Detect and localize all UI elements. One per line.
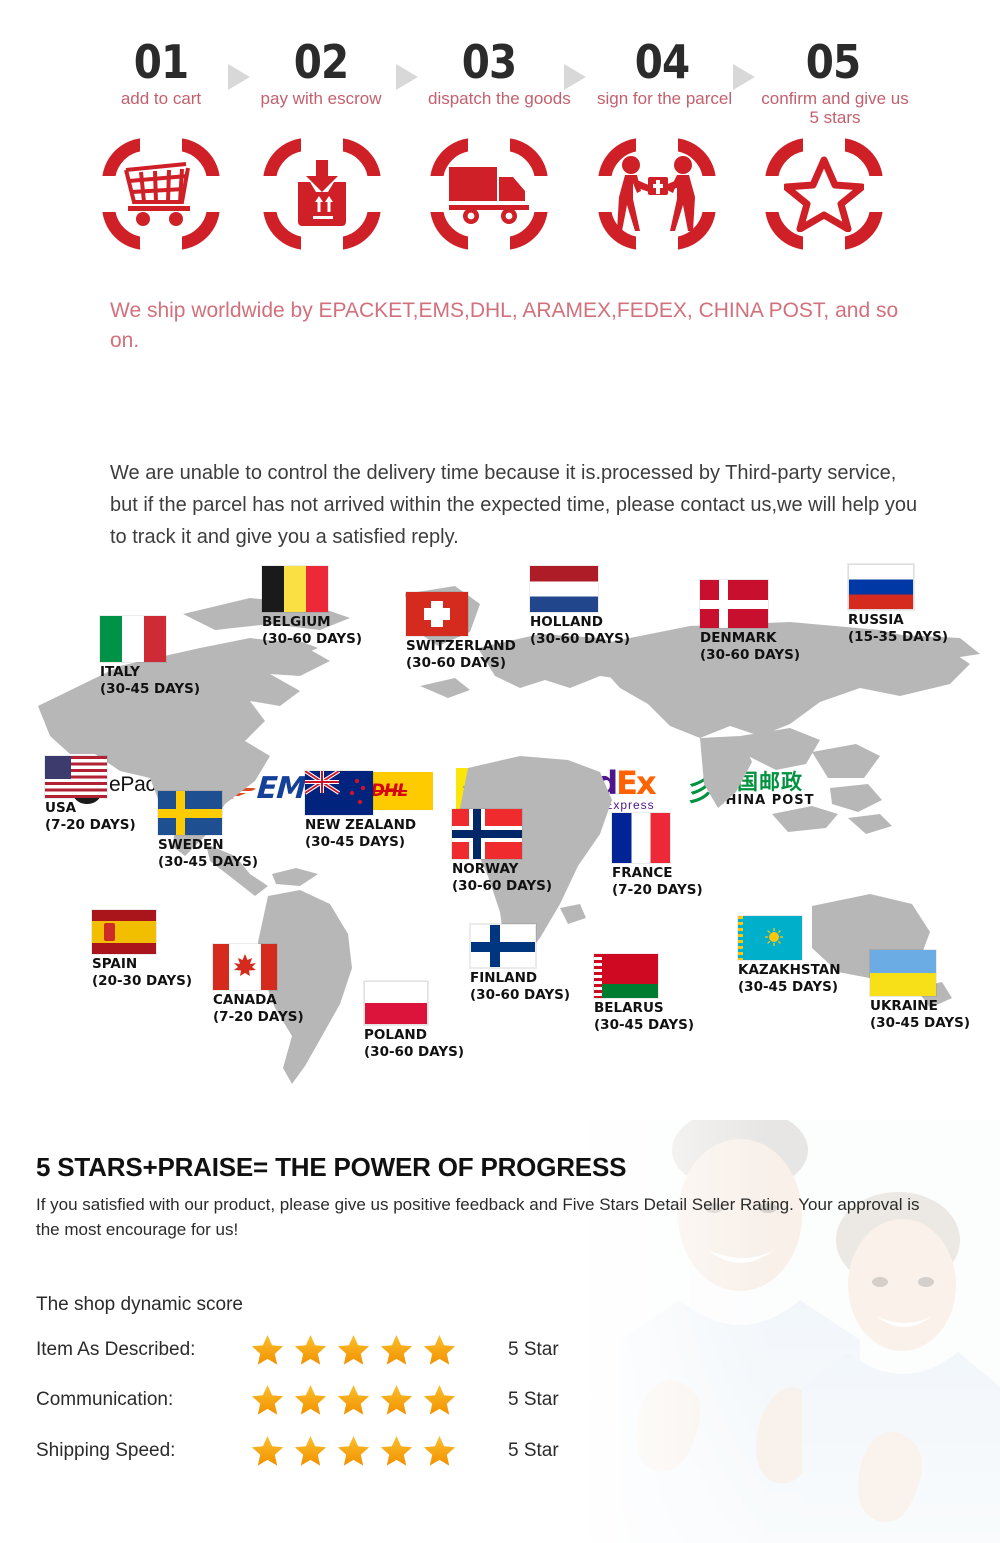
flag-holland-icon [530,566,598,612]
map-pin-denmark: DENMARK (30-60 DAYS) [700,580,800,664]
country-name: USA [45,800,136,817]
step-label: pay with escrow [260,89,382,108]
country-days: (30-60 DAYS) [406,655,516,672]
star-icon [380,1435,413,1467]
flag-canada-icon [213,944,277,990]
flag-russia-icon [848,564,914,610]
star-icon [294,1384,327,1416]
step-03: 03 dispatch the goods [428,38,550,108]
step-icon-04 [598,138,716,250]
rating-row-value: 5 Star [508,1440,559,1462]
country-name: DENMARK [700,630,800,647]
happy-customers-photo [580,1120,1000,1543]
map-pin-russia: RUSSIA (15-35 DAYS) [848,564,948,646]
rating-row-communication: Communication: 5 Star [36,1380,559,1420]
rating-row-label: Item As Described: [36,1339,251,1361]
flag-norway-icon [452,809,522,859]
star-icon [380,1334,413,1366]
country-days: (30-60 DAYS) [700,647,800,664]
map-pin-belarus: BELARUS (30-45 DAYS) [594,954,694,1034]
country-name: KAZAKHSTAN [738,962,841,979]
country-name: BELARUS [594,1000,694,1017]
flag-france-icon [612,813,670,863]
star-icon [423,1435,456,1467]
star-icon [251,1384,284,1416]
country-name: BELGIUM [262,614,362,631]
rating-stars [251,1435,496,1467]
country-name: HOLLAND [530,614,630,631]
country-name: NORWAY [452,861,552,878]
star-outline-icon [784,156,864,232]
rating-row-label: Shipping Speed: [36,1440,251,1462]
flag-sweden-icon [158,791,222,835]
country-days: (30-45 DAYS) [305,834,416,851]
country-name: SWEDEN [158,837,258,854]
flag-kazakhstan-icon [738,916,802,960]
flag-spain-icon [92,910,156,954]
flag-belgium-icon [262,566,328,612]
country-days: (30-60 DAYS) [452,878,552,895]
flag-belarus-icon [594,954,658,998]
country-name: SWITZERLAND [406,638,516,655]
map-pin-sweden: SWEDEN (30-45 DAYS) [158,791,258,871]
flag-finland-icon [470,924,536,968]
delivery-truck-icon [447,163,531,225]
star-icon [423,1384,456,1416]
flag-denmark-icon [700,580,768,628]
step-label: add to cart [100,89,222,108]
star-icon [294,1435,327,1467]
map-pin-switzerland: SWITZERLAND (30-60 DAYS) [406,592,516,672]
map-pin-italy: ITALY (30-45 DAYS) [100,616,200,698]
rating-row-shipping-speed: Shipping Speed: 5 Star [36,1431,559,1471]
map-pin-new-zealand: NEW ZEALAND (30-45 DAYS) [305,771,416,851]
rating-row-item-as-described: Item As Described: 5 Star [36,1330,559,1370]
step-number: 05 [769,38,897,86]
country-name: CANADA [213,992,304,1009]
country-days: (30-45 DAYS) [870,1015,970,1032]
country-name: SPAIN [92,956,192,973]
rating-title: 5 STARS+PRAISE= THE POWER OF PROGRESS [36,1152,626,1183]
map-pin-norway: NORWAY (30-60 DAYS) [452,809,552,895]
parcel-handover-icon [614,154,700,234]
flag-usa-icon [45,756,107,798]
country-name: RUSSIA [848,612,948,629]
star-icon [251,1435,284,1467]
map-pin-kazakhstan: KAZAKHSTAN (30-45 DAYS) [738,916,841,996]
star-icon [337,1384,370,1416]
step-icon-03 [430,138,548,250]
step-arrow-icon [228,64,250,90]
country-days: (30-60 DAYS) [530,631,630,648]
star-icon [337,1334,370,1366]
country-name: FINLAND [470,970,570,987]
step-01: 01 add to cart [100,38,222,108]
country-name: POLAND [364,1027,464,1044]
step-icon-05 [765,138,883,250]
step-label: confirm and give us 5 stars [760,89,910,127]
step-icon-02 [263,138,381,250]
order-steps: 01 add to cart 02 pay with escrow 03 dis… [0,38,1000,268]
step-arrow-icon [396,64,418,90]
country-days: (7-20 DAYS) [612,882,703,899]
step-label: dispatch the goods [428,89,550,108]
country-days: (7-20 DAYS) [45,817,136,834]
country-days: (20-30 DAYS) [92,973,192,990]
shopping-cart-icon [122,162,200,226]
rating-stars [251,1334,496,1366]
flag-poland-icon [364,981,428,1025]
star-icon [380,1384,413,1416]
map-pin-canada: CANADA (7-20 DAYS) [213,944,304,1026]
flag-ukraine-icon [870,950,936,996]
rating-row-value: 5 Star [508,1339,559,1361]
step-number: 02 [267,38,374,86]
country-days: (15-35 DAYS) [848,629,948,646]
step-arrow-icon [733,64,755,90]
map-pin-france: FRANCE (7-20 DAYS) [612,813,703,899]
map-pin-ukraine: UKRAINE (30-45 DAYS) [870,950,970,1032]
country-days: (30-60 DAYS) [364,1044,464,1061]
rating-stars [251,1384,496,1416]
flag-italy-icon [100,616,166,662]
rating-row-value: 5 Star [508,1389,559,1411]
map-pin-belgium: BELGIUM (30-60 DAYS) [262,566,362,648]
map-pin-spain: SPAIN (20-30 DAYS) [92,910,192,990]
rating-subtitle: If you satisfied with our product, pleas… [36,1192,936,1242]
step-number: 03 [435,38,542,86]
country-days: (30-60 DAYS) [470,987,570,1004]
country-name: UKRAINE [870,998,970,1015]
star-icon [294,1334,327,1366]
step-label: sign for the parcel [597,89,727,108]
step-05: 05 confirm and give us 5 stars [760,38,906,127]
step-arrow-icon [564,64,586,90]
shipping-intro-text: We ship worldwide by EPACKET,EMS,DHL, AR… [110,296,930,356]
country-days: (30-45 DAYS) [158,854,258,871]
country-days: (30-45 DAYS) [738,979,841,996]
map-pin-poland: POLAND (30-60 DAYS) [364,981,464,1061]
package-download-icon [286,158,358,230]
step-number: 01 [107,38,214,86]
map-pin-finland: FINLAND (30-60 DAYS) [470,924,570,1004]
step-icon-01 [102,138,220,250]
map-pin-usa: USA (7-20 DAYS) [45,756,136,834]
country-days: (30-45 DAYS) [594,1017,694,1034]
star-icon [251,1334,284,1366]
delivery-disclaimer-text: We are unable to control the delivery ti… [110,457,920,553]
world-shipping-map: ITALY (30-45 DAYS) BELGIUM (30-60 DAYS) … [0,556,1000,1096]
country-days: (30-60 DAYS) [262,631,362,648]
country-days: (7-20 DAYS) [213,1009,304,1026]
star-icon [337,1435,370,1467]
rating-row-label: Communication: [36,1389,251,1411]
step-02: 02 pay with escrow [260,38,382,108]
map-pin-holland: HOLLAND (30-60 DAYS) [530,566,630,648]
country-days: (30-45 DAYS) [100,681,200,698]
dynamic-score-label: The shop dynamic score [36,1294,243,1316]
carrier-logos: ePacket EMS DHL aramex delivery unlimite… [0,380,1000,442]
country-name: ITALY [100,664,200,681]
flag-new-zealand-icon [305,771,373,815]
country-name: NEW ZEALAND [305,817,416,834]
flag-switzerland-icon [406,592,468,636]
star-icon [423,1334,456,1366]
step-04: 04 sign for the parcel [597,38,727,108]
country-name: FRANCE [612,865,703,882]
step-number: 04 [605,38,719,86]
